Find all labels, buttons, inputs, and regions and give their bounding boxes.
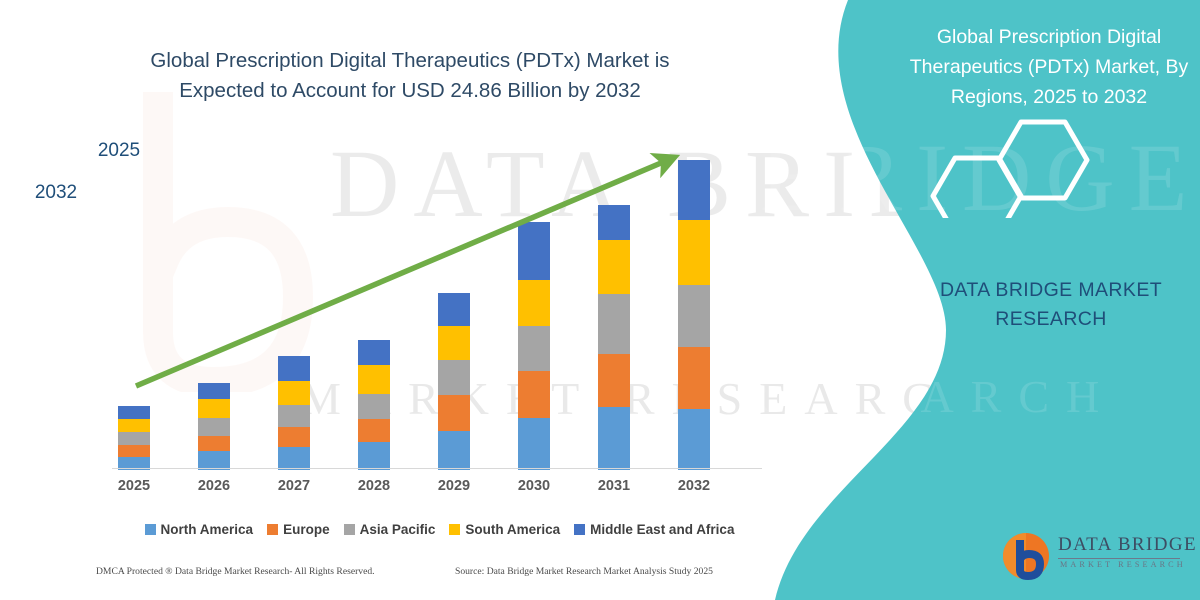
legend-label: North America xyxy=(161,522,254,537)
bar-segment xyxy=(598,354,630,407)
data-bridge-logo: DATA BRIDGE MARKET RESEARCH xyxy=(1000,528,1190,586)
data-bridge-mark-icon xyxy=(1000,530,1052,582)
chart-area: Global Prescription Digital Therapeutics… xyxy=(0,0,800,600)
bar-segment xyxy=(598,294,630,354)
bar-column xyxy=(438,140,470,470)
bar-segment xyxy=(278,356,310,381)
x-axis-tick-label: 2025 xyxy=(104,478,164,494)
hexagon-2032-shape xyxy=(933,158,1021,218)
bar-column xyxy=(598,140,630,470)
bar-segment xyxy=(118,432,150,445)
x-axis-tick-label: 2029 xyxy=(424,478,484,494)
legend-swatch-icon xyxy=(344,524,355,535)
x-axis-labels: 20252026202720282029203020312032 xyxy=(112,478,772,504)
bar-column xyxy=(278,140,310,470)
bar-column xyxy=(358,140,390,470)
x-axis-tick-label: 2032 xyxy=(664,478,724,494)
bar-segment xyxy=(278,427,310,447)
bar-segment xyxy=(198,436,230,451)
bar-segment xyxy=(518,418,550,470)
bar-segment xyxy=(278,405,310,427)
bar-segment xyxy=(358,340,390,365)
bar-segment xyxy=(678,285,710,347)
bar-segment xyxy=(358,419,390,442)
bar-segment xyxy=(358,394,390,419)
footer-source-text: Source: Data Bridge Market Research Mark… xyxy=(455,566,713,577)
bar-segment xyxy=(198,383,230,399)
bar-segment xyxy=(358,442,390,470)
bar-segment xyxy=(438,360,470,395)
x-axis-tick-label: 2026 xyxy=(184,478,244,494)
logo-subtitle: MARKET RESEARCH xyxy=(1060,560,1186,569)
chart-legend: North AmericaEuropeAsia PacificSouth Ame… xyxy=(112,518,767,540)
bar-segment xyxy=(358,365,390,394)
legend-swatch-icon xyxy=(574,524,585,535)
footer-dmca-text: DMCA Protected ® Data Bridge Market Rese… xyxy=(96,566,375,577)
legend-label: Middle East and Africa xyxy=(590,522,734,537)
x-axis-tick-label: 2028 xyxy=(344,478,404,494)
legend-swatch-icon xyxy=(145,524,156,535)
bar-segment xyxy=(678,220,710,285)
logo-divider xyxy=(1058,558,1180,559)
x-axis-line xyxy=(112,468,762,470)
chart-title: Global Prescription Digital Therapeutics… xyxy=(120,46,700,106)
legend-item[interactable]: Europe xyxy=(267,522,330,537)
infographic-canvas: DATA BRIDGE MARKET RESEARCH BRIDGE RESEA… xyxy=(0,0,1200,600)
legend-label: South America xyxy=(465,522,560,537)
plot-area xyxy=(112,140,772,470)
legend-swatch-icon xyxy=(267,524,278,535)
bar-segment xyxy=(518,222,550,280)
bar-column xyxy=(198,140,230,470)
bar-segment xyxy=(518,371,550,418)
bar-segment xyxy=(518,280,550,326)
bar-segment xyxy=(438,326,470,360)
legend-label: Europe xyxy=(283,522,330,537)
bar-segment xyxy=(198,399,230,418)
bar-segment xyxy=(438,395,470,431)
legend-item[interactable]: Middle East and Africa xyxy=(574,522,734,537)
bar-column xyxy=(678,140,710,470)
legend-item[interactable]: North America xyxy=(145,522,254,537)
bar-segment xyxy=(438,293,470,326)
legend-item[interactable]: Asia Pacific xyxy=(344,522,436,537)
bar-column xyxy=(118,140,150,470)
bar-segment xyxy=(598,205,630,240)
bar-segment xyxy=(598,240,630,294)
bar-segment xyxy=(678,409,710,470)
right-panel-title: Global Prescription Digital Therapeutics… xyxy=(905,22,1193,112)
bar-segment xyxy=(598,407,630,470)
x-axis-tick-label: 2031 xyxy=(584,478,644,494)
legend-label: Asia Pacific xyxy=(360,522,436,537)
bar-column xyxy=(518,140,550,470)
bar-segment xyxy=(518,326,550,371)
x-axis-tick-label: 2030 xyxy=(504,478,564,494)
x-axis-tick-label: 2027 xyxy=(264,478,324,494)
bar-segment xyxy=(118,445,150,458)
bar-segment xyxy=(678,160,710,220)
bar-segment xyxy=(678,347,710,409)
bar-segment xyxy=(118,419,150,432)
hexagon-2025-shape xyxy=(999,122,1087,198)
footer: DMCA Protected ® Data Bridge Market Rese… xyxy=(0,566,800,590)
year-hexagon-badges xyxy=(925,108,1125,218)
bar-segment xyxy=(198,418,230,436)
logo-name: DATA BRIDGE xyxy=(1058,534,1197,556)
bar-segment xyxy=(118,406,150,419)
right-panel-brand-text: DATA BRIDGE MARKET RESEARCH xyxy=(920,276,1182,334)
legend-item[interactable]: South America xyxy=(449,522,560,537)
legend-swatch-icon xyxy=(449,524,460,535)
bar-segment xyxy=(438,431,470,470)
bar-segment xyxy=(278,381,310,405)
